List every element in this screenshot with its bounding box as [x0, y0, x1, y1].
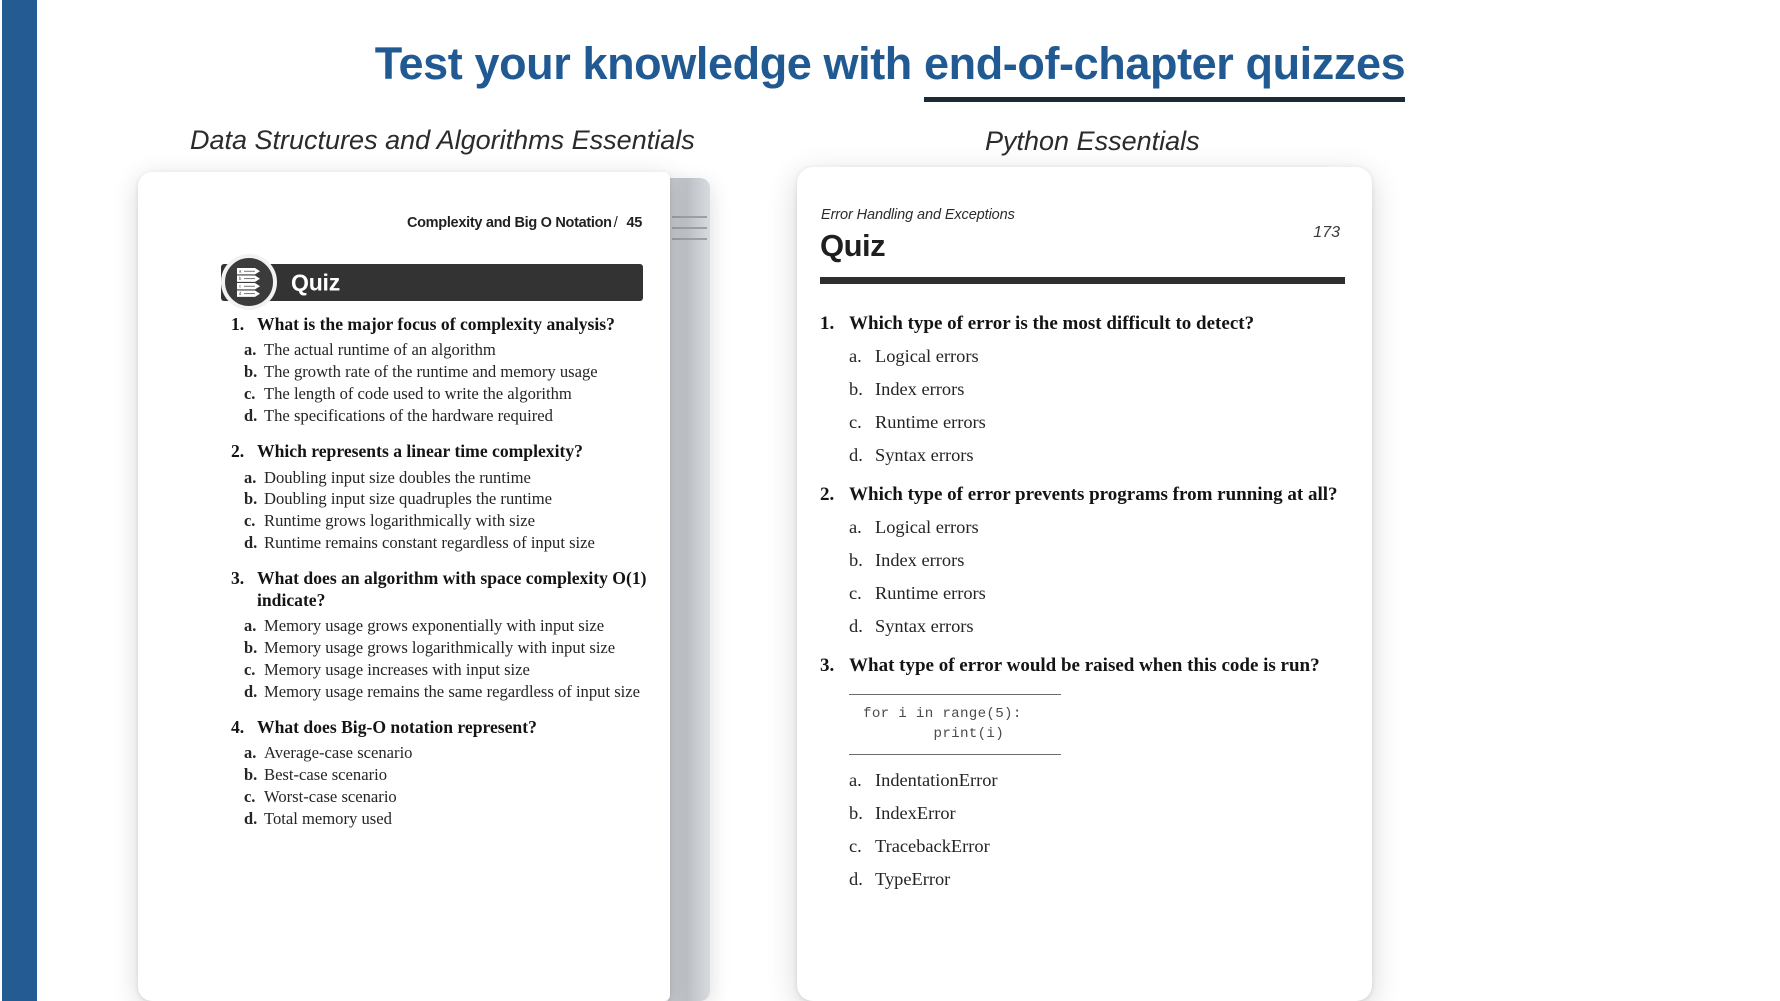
question-text: Which represents a linear time complexit…	[257, 441, 654, 462]
option-item[interactable]: d. Memory usage remains the same regardl…	[230, 682, 654, 703]
option-letter: c.	[230, 384, 264, 405]
page-edge-rule	[672, 238, 707, 240]
option-text: Runtime remains constant regardless of i…	[264, 533, 654, 554]
book-page-edge-stack	[668, 178, 710, 1001]
question-heading: 2. Which type of error prevents programs…	[820, 483, 1354, 507]
option-list: a. Logical errors b. Index errors c. Run…	[820, 345, 1354, 466]
option-item[interactable]: d. Total memory used	[230, 809, 654, 830]
option-letter: d.	[230, 406, 264, 427]
option-item[interactable]: a. Logical errors	[820, 516, 1354, 538]
option-item[interactable]: b. IndexError	[820, 802, 1354, 824]
option-text: Syntax errors	[875, 444, 1354, 466]
question-number: 1.	[230, 314, 257, 335]
question-block: 2. Which represents a linear time comple…	[230, 441, 654, 554]
option-text: Memory usage grows logarithmically with …	[264, 638, 654, 659]
option-text: Logical errors	[875, 516, 1354, 538]
question-text: Which type of error is the most difficul…	[849, 312, 1354, 336]
option-letter: c.	[230, 787, 264, 808]
option-list: a. Memory usage grows exponentially with…	[230, 616, 654, 703]
question-block: 1. What is the major focus of complexity…	[230, 314, 654, 427]
option-text: Total memory used	[264, 809, 654, 830]
option-item[interactable]: a. The actual runtime of an algorithm	[230, 340, 654, 361]
option-list: a. Average-case scenario b. Best-case sc…	[230, 743, 654, 830]
option-item[interactable]: b. Index errors	[820, 549, 1354, 571]
svg-text:c: c	[239, 284, 241, 289]
question-text: Which type of error prevents programs fr…	[849, 483, 1354, 507]
option-item[interactable]: d. The specifications of the hardware re…	[230, 406, 654, 427]
left-running-head-text: Complexity and Big O Notation	[407, 215, 612, 231]
question-number: 3.	[820, 654, 849, 678]
option-text: TracebackError	[875, 835, 1354, 857]
option-item[interactable]: a. IndentationError	[820, 769, 1354, 791]
option-text: The growth rate of the runtime and memor…	[264, 362, 654, 383]
option-letter: b.	[230, 765, 264, 786]
question-heading: 4. What does Big-O notation represent?	[230, 717, 654, 738]
left-book-page: Complexity and Big O Notation/45 Quiz a …	[138, 172, 670, 1001]
question-heading: 1. What is the major focus of complexity…	[230, 314, 654, 335]
option-letter: a.	[820, 345, 875, 367]
option-text: The length of code used to write the alg…	[264, 384, 654, 405]
left-page-running-head: Complexity and Big O Notation/45	[407, 215, 642, 231]
option-text: Memory usage remains the same regardless…	[264, 682, 654, 703]
option-letter: d.	[230, 809, 264, 830]
option-item[interactable]: b. Doubling input size quadruples the ru…	[230, 489, 654, 510]
option-item[interactable]: a. Doubling input size doubles the runti…	[230, 468, 654, 489]
caption-left-book: Data Structures and Algorithms Essential…	[190, 125, 695, 156]
question-number: 3.	[230, 568, 257, 589]
page-title-underlined-part: end-of-chapter quizzes	[924, 38, 1405, 90]
question-block: 4. What does Big-O notation represent? a…	[230, 717, 654, 830]
option-text: IndentationError	[875, 769, 1354, 791]
option-letter: a.	[230, 743, 264, 764]
left-page-number: 45	[619, 215, 642, 231]
question-number: 2.	[820, 483, 849, 507]
option-letter: a.	[820, 516, 875, 538]
option-item[interactable]: d. TypeError	[820, 868, 1354, 890]
option-letter: c.	[820, 835, 875, 857]
option-item[interactable]: c. Runtime errors	[820, 582, 1354, 604]
option-item[interactable]: c. Worst-case scenario	[230, 787, 654, 808]
option-letter: c.	[820, 582, 875, 604]
option-text: Syntax errors	[875, 615, 1354, 637]
right-book-page: Error Handling and Exceptions 173 Quiz 1…	[797, 167, 1372, 1001]
question-heading: 3. What type of error would be raised wh…	[820, 654, 1354, 678]
option-text: Doubling input size doubles the runtime	[264, 468, 654, 489]
option-item[interactable]: d. Syntax errors	[820, 444, 1354, 466]
option-letter: a.	[230, 340, 264, 361]
option-letter: c.	[230, 660, 264, 681]
right-quiz-question-list: 1. Which type of error is the most diffi…	[820, 312, 1354, 908]
option-item[interactable]: b. Index errors	[820, 378, 1354, 400]
option-letter: d.	[820, 615, 875, 637]
option-item[interactable]: c. TracebackError	[820, 835, 1354, 857]
page-edge-rule	[672, 227, 707, 229]
code-line: for i in range(5):	[849, 704, 1061, 724]
option-text: Memory usage grows exponentially with in…	[264, 616, 654, 637]
option-letter: a.	[820, 769, 875, 791]
option-item[interactable]: a. Average-case scenario	[230, 743, 654, 764]
page-title: Test your knowledge with end-of-chapter …	[0, 38, 1780, 90]
question-number: 1.	[820, 312, 849, 336]
question-text: What type of error would be raised when …	[849, 654, 1354, 678]
option-text: Runtime errors	[875, 582, 1354, 604]
option-text: Worst-case scenario	[264, 787, 654, 808]
question-block: 1. Which type of error is the most diffi…	[820, 312, 1354, 466]
option-text: Runtime errors	[875, 411, 1354, 433]
question-block: 3. What type of error would be raised wh…	[820, 654, 1354, 890]
option-item[interactable]: b. Memory usage grows logarithmically wi…	[230, 638, 654, 659]
option-text: The actual runtime of an algorithm	[264, 340, 654, 361]
question-heading: 2. Which represents a linear time comple…	[230, 441, 654, 462]
question-text: What does Big-O notation represent?	[257, 717, 654, 738]
option-text: Average-case scenario	[264, 743, 654, 764]
question-heading: 3. What does an algorithm with space com…	[230, 568, 654, 611]
option-list: a. IndentationError b. IndexError c. Tra…	[820, 769, 1354, 890]
option-list: a. Logical errors b. Index errors c. Run…	[820, 516, 1354, 637]
question-text: What is the major focus of complexity an…	[257, 314, 654, 335]
option-letter: b.	[230, 362, 264, 383]
option-text: Doubling input size quadruples the runti…	[264, 489, 654, 510]
option-letter: b.	[230, 638, 264, 659]
right-title-rule	[820, 277, 1345, 284]
option-letter: d.	[230, 682, 264, 703]
option-item[interactable]: b. Best-case scenario	[230, 765, 654, 786]
question-block: 2. Which type of error prevents programs…	[820, 483, 1354, 637]
option-item[interactable]: d. Syntax errors	[820, 615, 1354, 637]
left-quiz-question-list: 1. What is the major focus of complexity…	[230, 314, 654, 844]
option-item[interactable]: b. The growth rate of the runtime and me…	[230, 362, 654, 383]
option-text: TypeError	[875, 868, 1354, 890]
option-letter: b.	[230, 489, 264, 510]
option-letter: b.	[820, 802, 875, 824]
option-letter: a.	[230, 468, 264, 489]
caption-right-book: Python Essentials	[985, 126, 1200, 157]
option-item[interactable]: c. Runtime grows logarithmically with si…	[230, 511, 654, 532]
option-list: a. The actual runtime of an algorithm b.…	[230, 340, 654, 427]
option-text: Memory usage increases with input size	[264, 660, 654, 681]
code-snippet: for i in range(5): print(i)	[849, 694, 1061, 755]
option-letter: b.	[820, 549, 875, 571]
option-letter: c.	[230, 511, 264, 532]
option-list: a. Doubling input size doubles the runti…	[230, 468, 654, 555]
option-text: The specifications of the hardware requi…	[264, 406, 654, 427]
code-line: print(i)	[849, 724, 1061, 744]
left-quiz-header-bar: Quiz	[221, 264, 643, 301]
option-text: Logical errors	[875, 345, 1354, 367]
answer-sheet-icon: a b c d	[221, 254, 277, 310]
option-letter: b.	[820, 378, 875, 400]
option-letter: d.	[820, 868, 875, 890]
question-heading: 1. Which type of error is the most diffi…	[820, 312, 1354, 336]
option-item[interactable]: d. Runtime remains constant regardless o…	[230, 533, 654, 554]
right-quiz-title: Quiz	[820, 228, 885, 264]
option-text: Index errors	[875, 549, 1354, 571]
option-item[interactable]: c. Memory usage increases with input siz…	[230, 660, 654, 681]
option-item[interactable]: c. Runtime errors	[820, 411, 1354, 433]
option-text: Runtime grows logarithmically with size	[264, 511, 654, 532]
page-title-part1: Test your knowledge with	[375, 38, 924, 89]
option-item[interactable]: a. Memory usage grows exponentially with…	[230, 616, 654, 637]
left-quiz-label: Quiz	[291, 269, 340, 296]
page-edge-rule	[672, 216, 707, 218]
option-letter: a.	[230, 616, 264, 637]
option-letter: c.	[820, 411, 875, 433]
right-page-running-head: Error Handling and Exceptions	[821, 207, 1015, 223]
question-block: 3. What does an algorithm with space com…	[230, 568, 654, 703]
option-letter: d.	[230, 533, 264, 554]
question-text: What does an algorithm with space comple…	[257, 568, 654, 611]
option-letter: d.	[820, 444, 875, 466]
right-page-number: 173	[1313, 224, 1340, 242]
option-text: IndexError	[875, 802, 1354, 824]
left-accent-bar	[2, 0, 37, 1001]
question-number: 4.	[230, 717, 257, 738]
question-number: 2.	[230, 441, 257, 462]
option-text: Best-case scenario	[264, 765, 654, 786]
option-item[interactable]: c. The length of code used to write the …	[230, 384, 654, 405]
option-item[interactable]: a. Logical errors	[820, 345, 1354, 367]
option-text: Index errors	[875, 378, 1354, 400]
